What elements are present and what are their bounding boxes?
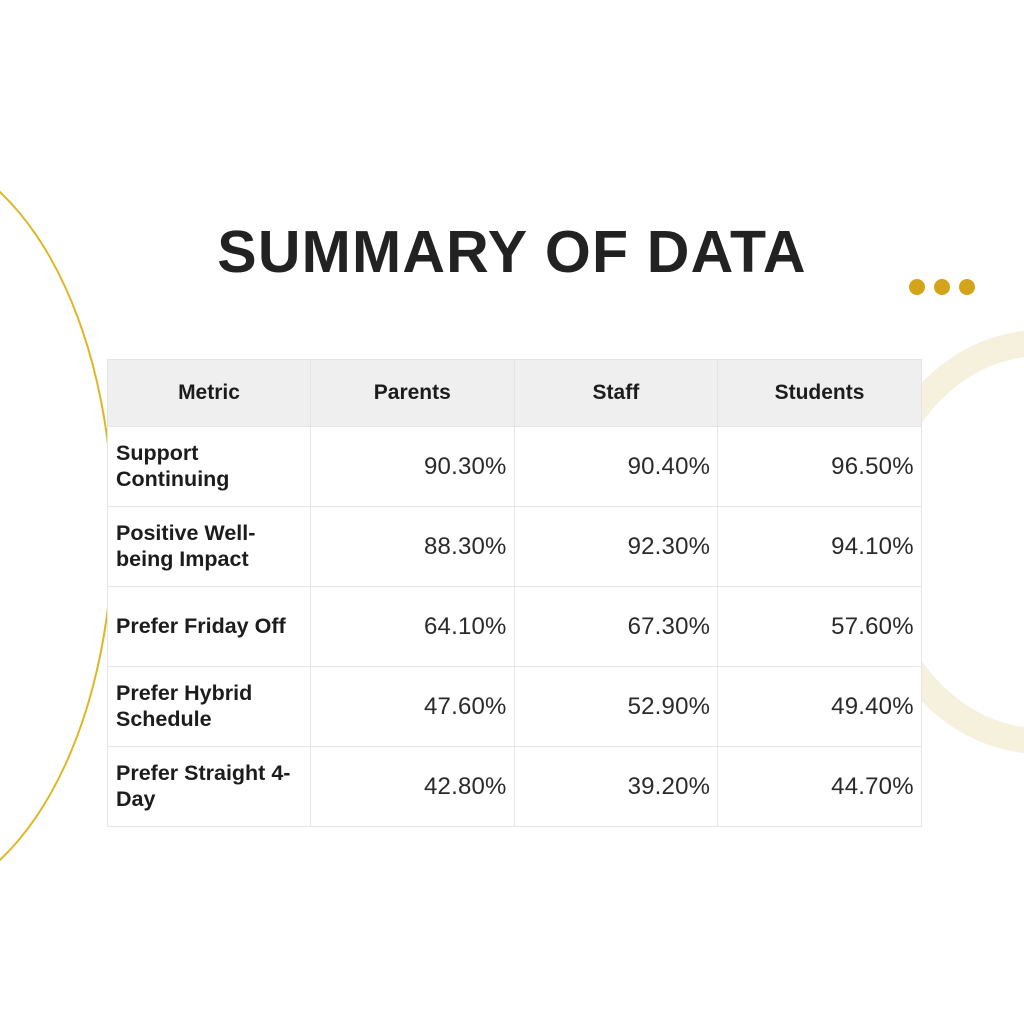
- table-header-row: Metric Parents Staff Students: [108, 360, 922, 427]
- value-parents: 90.30%: [311, 427, 515, 507]
- table-header: Metric Parents Staff Students: [108, 360, 922, 427]
- value-staff: 92.30%: [514, 507, 718, 587]
- table-body: Support Continuing 90.30% 90.40% 96.50% …: [108, 427, 922, 827]
- table-row: Prefer Straight 4-Day 42.80% 39.20% 44.7…: [108, 747, 922, 827]
- value-staff: 52.90%: [514, 667, 718, 747]
- metric-label: Support Continuing: [108, 427, 311, 507]
- column-header-parents: Parents: [311, 360, 515, 427]
- slide-canvas: SUMMARY OF DATA Metric Parents Staff Stu…: [0, 0, 1024, 1024]
- metric-label: Positive Well-being Impact: [108, 507, 311, 587]
- value-students: 57.60%: [718, 587, 922, 667]
- table-row: Prefer Friday Off 64.10% 67.30% 57.60%: [108, 587, 922, 667]
- column-header-staff: Staff: [514, 360, 718, 427]
- table-row: Prefer Hybrid Schedule 47.60% 52.90% 49.…: [108, 667, 922, 747]
- value-students: 44.70%: [718, 747, 922, 827]
- value-parents: 88.30%: [311, 507, 515, 587]
- value-parents: 64.10%: [311, 587, 515, 667]
- page-title: SUMMARY OF DATA: [0, 222, 1024, 284]
- metric-label: Prefer Friday Off: [108, 587, 311, 667]
- metric-label: Prefer Straight 4-Day: [108, 747, 311, 827]
- value-students: 49.40%: [718, 667, 922, 747]
- summary-table-container: Metric Parents Staff Students Support Co…: [107, 359, 921, 827]
- column-header-students: Students: [718, 360, 922, 427]
- value-staff: 67.30%: [514, 587, 718, 667]
- table-row: Support Continuing 90.30% 90.40% 96.50%: [108, 427, 922, 507]
- value-parents: 42.80%: [311, 747, 515, 827]
- value-staff: 90.40%: [514, 427, 718, 507]
- value-students: 96.50%: [718, 427, 922, 507]
- summary-data-table: Metric Parents Staff Students Support Co…: [107, 359, 922, 827]
- metric-label: Prefer Hybrid Schedule: [108, 667, 311, 747]
- column-header-metric: Metric: [108, 360, 311, 427]
- value-students: 94.10%: [718, 507, 922, 587]
- value-staff: 39.20%: [514, 747, 718, 827]
- table-row: Positive Well-being Impact 88.30% 92.30%…: [108, 507, 922, 587]
- value-parents: 47.60%: [311, 667, 515, 747]
